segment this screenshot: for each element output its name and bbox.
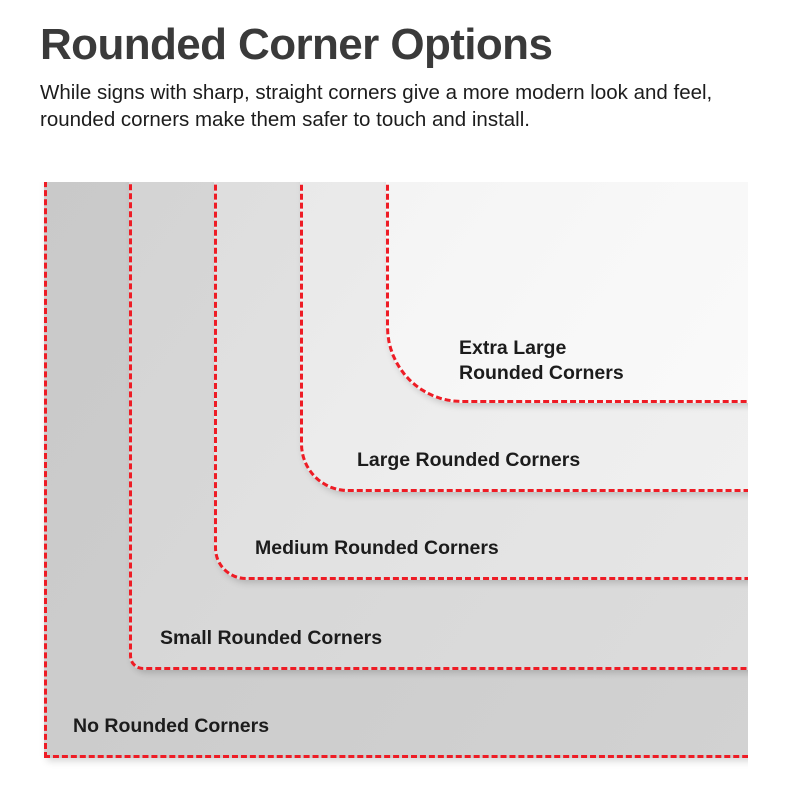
panel-extra-large-rounded-corners[interactable]: Extra Large Rounded Corners [386, 182, 748, 403]
panel-label-small-rounded-corners: Small Rounded Corners [160, 626, 382, 651]
header: Rounded Corner Options While signs with … [40, 22, 770, 134]
panel-label-extra-large-rounded-corners: Extra Large Rounded Corners [459, 336, 624, 386]
page-title: Rounded Corner Options [40, 22, 770, 69]
corner-options-diagram: No Rounded Corners Small Rounded Corners… [36, 182, 748, 772]
panel-label-no-rounded-corners: No Rounded Corners [73, 714, 269, 739]
panel-label-large-rounded-corners: Large Rounded Corners [357, 448, 580, 473]
page-subtitle: While signs with sharp, straight corners… [40, 79, 740, 134]
panel-label-medium-rounded-corners: Medium Rounded Corners [255, 536, 499, 561]
page-root: Rounded Corner Options While signs with … [0, 0, 800, 800]
